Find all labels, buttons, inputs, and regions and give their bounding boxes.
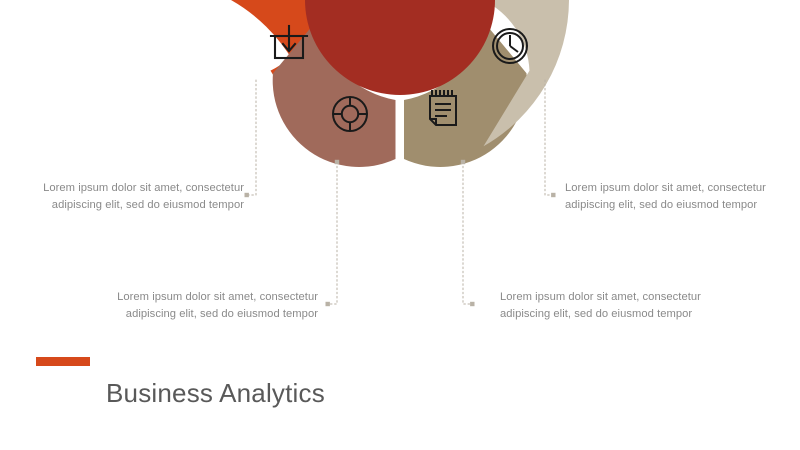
caption-inner-left: Lorem ipsum dolor sit amet, consectetur …: [100, 289, 318, 324]
connector-outer-left: [245, 80, 257, 197]
caption-inner-right: Lorem ipsum dolor sit amet, consectetur …: [500, 289, 718, 324]
title-accent-bar: [36, 357, 90, 366]
caption-outer-left: Lorem ipsum dolor sit amet, consectetur …: [26, 180, 244, 215]
caption-line-2: adipiscing elit, sed do eiusmod tempor: [565, 197, 783, 214]
title-block: Business Analytics: [0, 350, 800, 450]
slide-canvas: Lorem ipsum dolor sit amet, consectetur …: [0, 0, 800, 450]
connector-inner-left: [326, 160, 340, 306]
caption-line-1: Lorem ipsum dolor sit amet, consectetur: [100, 289, 318, 306]
caption-line-2: adipiscing elit, sed do eiusmod tempor: [26, 197, 244, 214]
caption-line-2: adipiscing elit, sed do eiusmod tempor: [100, 306, 318, 323]
connector-outer-right: [545, 80, 556, 197]
caption-line-1: Lorem ipsum dolor sit amet, consectetur: [565, 180, 783, 197]
caption-line-1: Lorem ipsum dolor sit amet, consectetur: [26, 180, 244, 197]
caption-line-2: adipiscing elit, sed do eiusmod tempor: [500, 306, 718, 323]
page-title: Business Analytics: [106, 378, 325, 409]
caption-outer-right: Lorem ipsum dolor sit amet, consectetur …: [565, 180, 783, 215]
connector-inner-right: [461, 160, 475, 306]
caption-line-1: Lorem ipsum dolor sit amet, consectetur: [500, 289, 718, 306]
